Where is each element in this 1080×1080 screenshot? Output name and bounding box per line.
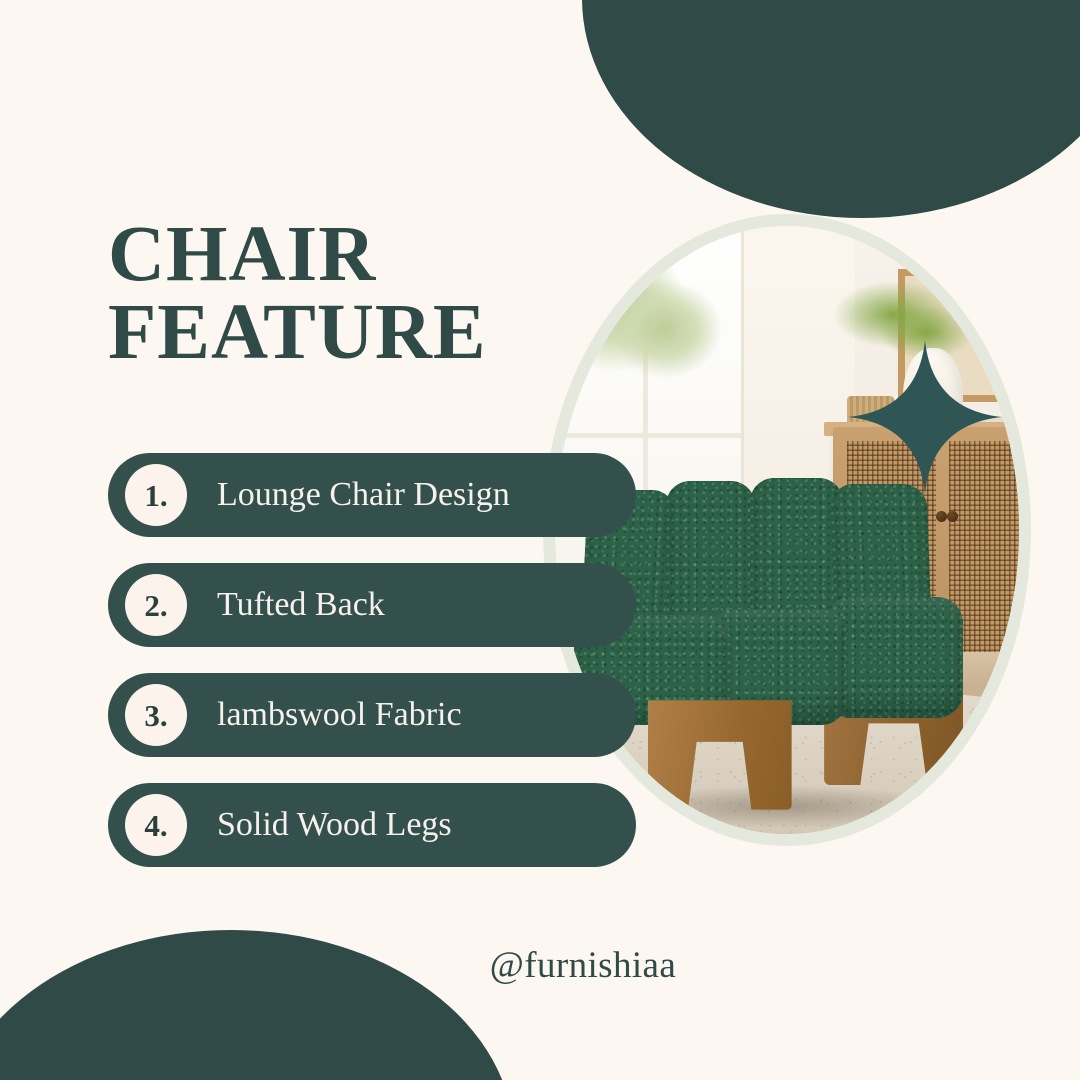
poster-canvas: CHAIR FEATURE 1. Lounge Chair Design 2. … — [0, 0, 1080, 1080]
feature-number: 4. — [125, 794, 187, 856]
title-line-1: CHAIR — [108, 216, 487, 294]
sparkle-icon — [848, 340, 1002, 494]
title-line-2: FEATURE — [108, 294, 487, 372]
feature-number: 1. — [125, 464, 187, 526]
feature-label: lambswool Fabric — [217, 698, 462, 732]
feature-item-4[interactable]: 4. Solid Wood Legs — [108, 783, 636, 867]
feature-item-3[interactable]: 3. lambswool Fabric — [108, 673, 636, 757]
feature-item-2[interactable]: 2. Tufted Back — [108, 563, 636, 647]
feature-list: 1. Lounge Chair Design 2. Tufted Back 3.… — [108, 453, 636, 867]
feature-label: Tufted Back — [217, 588, 385, 622]
feature-number: 3. — [125, 684, 187, 746]
social-handle-text: @furnishiaa — [490, 945, 676, 986]
social-handle: @furnishiaa — [0, 944, 1080, 987]
feature-number: 2. — [125, 574, 187, 636]
feature-label: Solid Wood Legs — [217, 808, 452, 842]
feature-label: Lounge Chair Design — [217, 478, 510, 512]
page-title: CHAIR FEATURE — [108, 216, 487, 372]
feature-item-1[interactable]: 1. Lounge Chair Design — [108, 453, 636, 537]
top-right-blob — [582, 0, 1080, 218]
